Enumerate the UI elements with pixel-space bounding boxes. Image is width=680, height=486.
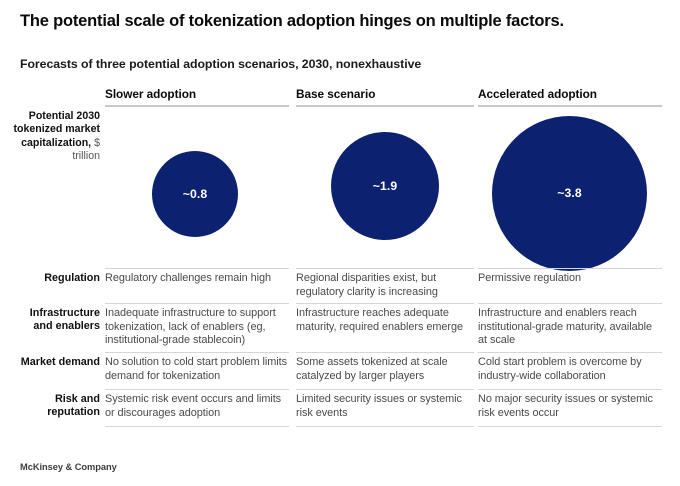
page-title: The potential scale of tokenization adop… — [20, 11, 650, 31]
cell-market-demand-slower: No solution to cold start problem limits… — [105, 356, 289, 383]
row-rule-2-col-3 — [478, 303, 662, 304]
bubble-slower-adoption: ~0.8 — [152, 151, 238, 237]
row-rule-3-col-2 — [296, 352, 474, 353]
row-rule-3-col-1 — [105, 352, 289, 353]
row-rule-2-col-1 — [105, 303, 289, 304]
axis-label-market-cap: Potential 2030 tokenized market capitali… — [8, 110, 100, 164]
row-label-market-demand: Market demand — [8, 356, 100, 369]
row-rule-1-col-3 — [478, 268, 662, 269]
column-header-base-scenario: Base scenario — [296, 87, 474, 101]
bubble-value-slower-adoption: ~0.8 — [183, 188, 207, 200]
cell-market-demand-accelerated: Cold start problem is overcome by indust… — [478, 356, 662, 383]
row-rule-bottom-col-3 — [478, 426, 662, 427]
row-rule-1-col-1 — [105, 268, 289, 269]
row-rule-3-col-3 — [478, 352, 662, 353]
column-header-rule-1 — [105, 105, 289, 107]
cell-regulation-base: Regional disparities exist, but regulato… — [296, 272, 474, 299]
row-label-regulation: Regulation — [8, 272, 100, 285]
footer-source: McKinsey & Company — [20, 462, 117, 472]
cell-regulation-slower: Regulatory challenges remain high — [105, 272, 289, 286]
row-rule-bottom-col-1 — [105, 426, 289, 427]
bubble-value-base-scenario: ~1.9 — [373, 180, 397, 192]
row-rule-4-col-2 — [296, 389, 474, 390]
row-rule-1-col-2 — [296, 268, 474, 269]
row-rule-4-col-1 — [105, 389, 289, 390]
bubble-accelerated-adoption: ~3.8 — [492, 116, 647, 271]
cell-risk-base: Limited security issues or systemic risk… — [296, 393, 474, 420]
column-header-rule-3 — [478, 105, 662, 107]
column-header-slower-adoption: Slower adoption — [105, 87, 289, 101]
bubble-value-accelerated-adoption: ~3.8 — [557, 187, 581, 199]
cell-infrastructure-slower: Inadequate infrastructure to support tok… — [105, 307, 289, 348]
axis-label-main: Potential 2030 tokenized market capitali… — [13, 110, 100, 149]
column-header-rule-2 — [296, 105, 474, 107]
row-rule-4-col-3 — [478, 389, 662, 390]
row-rule-2-col-2 — [296, 303, 474, 304]
cell-risk-accelerated: No major security issues or systemic ris… — [478, 393, 662, 420]
column-header-accelerated-adoption: Accelerated adoption — [478, 87, 662, 101]
bubble-base-scenario: ~1.9 — [331, 132, 439, 240]
cell-infrastructure-accelerated: Infrastructure and enablers reach instit… — [478, 307, 662, 348]
cell-regulation-accelerated: Permissive regulation — [478, 272, 662, 286]
cell-risk-slower: Systemic risk event occurs and limits or… — [105, 393, 289, 420]
row-rule-bottom-col-2 — [296, 426, 474, 427]
row-label-risk-reputation: Risk and reputation — [8, 393, 100, 419]
exhibit-container: The potential scale of tokenization adop… — [0, 0, 680, 486]
row-label-infrastructure: Infrastructure and enablers — [8, 307, 100, 333]
cell-infrastructure-base: Infrastructure reaches adequate maturity… — [296, 307, 474, 334]
cell-market-demand-base: Some assets tokenized at scale catalyzed… — [296, 356, 474, 383]
page-subtitle: Forecasts of three potential adoption sc… — [20, 56, 650, 72]
